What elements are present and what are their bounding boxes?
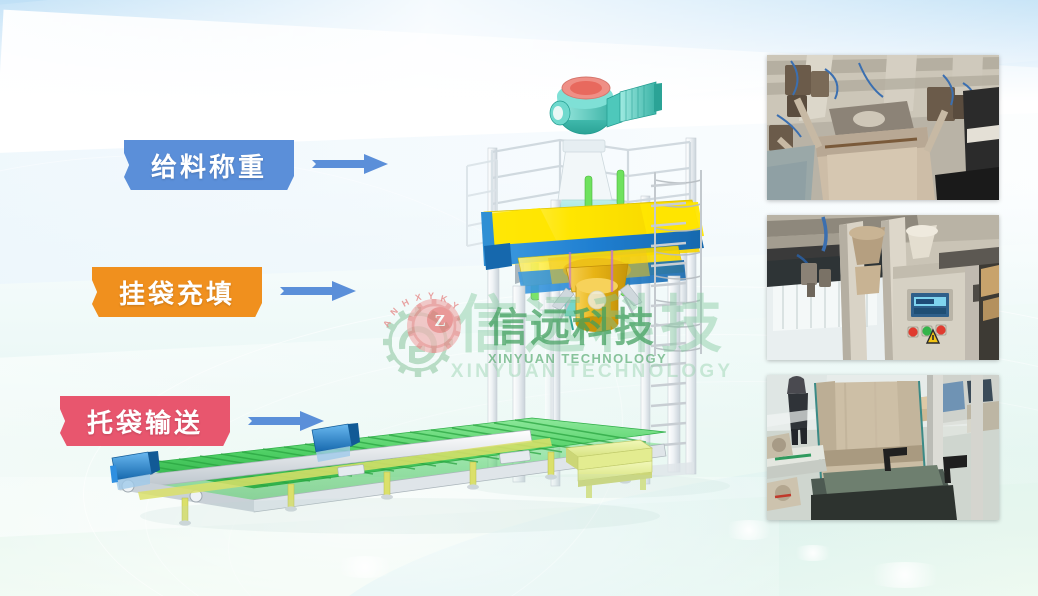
arrow-bag-pallet-conveying (248, 410, 324, 432)
stage-banner-feeding-weighing[interactable]: 给料称重 (124, 140, 294, 190)
stage-label-bag-hanging-filling: 挂袋充填 (119, 274, 235, 311)
photo-filled-bag-conveyor[interactable] (767, 375, 999, 520)
stage-label-bag-pallet-conveying: 托袋输送 (87, 403, 203, 440)
arrow-bag-hanging-filling (280, 280, 356, 302)
stage-banner-bag-hanging-filling[interactable]: 挂袋充填 (92, 267, 262, 317)
stage-label-feeding-weighing: 给料称重 (151, 147, 267, 184)
stage-banner-bag-pallet-conveying[interactable]: 托袋输送 (60, 396, 230, 446)
photo-bag-clamping[interactable] (767, 55, 999, 200)
arrow-feeding-weighing (312, 153, 388, 175)
slide-canvas: 信远科技 XINYUAN TECHNOLOGY (0, 0, 1038, 596)
photo-control-cabinet[interactable] (767, 215, 999, 360)
